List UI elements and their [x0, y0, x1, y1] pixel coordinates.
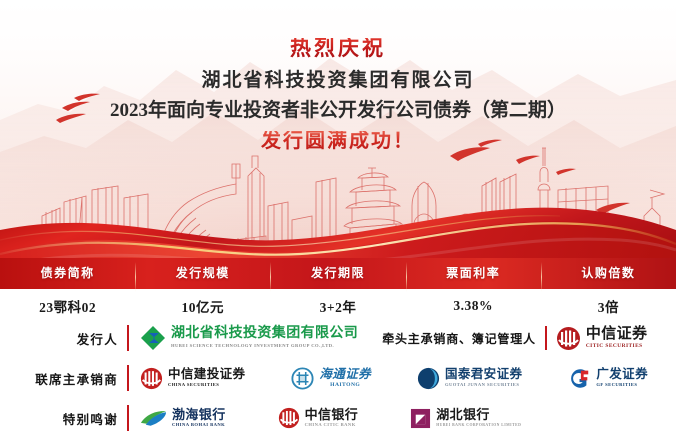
issuer-logos: 湖北省科技投资集团有限公司 HUBEI SCIENCE TECHNOLOGY I… [140, 325, 676, 351]
logo-haitong-securities: 海通证券 HAITONG [291, 367, 371, 390]
table-header-cell-3: 票面利率 [406, 264, 541, 281]
table-value-cell-0: 23鄂科02 [0, 296, 135, 316]
title-line-bond: 2023年面向专业投资者非公开发行公司债券（第二期） [0, 101, 676, 120]
title-line-celebrate: 热烈庆祝 [0, 38, 676, 59]
logo-cn-name: 中信建投证券 [168, 368, 245, 381]
gf-g-mark [568, 367, 591, 390]
row-divider [127, 365, 129, 391]
logo-cn-name: 国泰君安证券 [445, 368, 522, 381]
logo-cn-name: 海通证券 [319, 368, 371, 381]
title-block: 热烈庆祝 湖北省科技投资集团有限公司 2023年面向专业投资者非公开发行公司债券… [0, 38, 676, 151]
logo-en-name: CHINA BOHAI BANK [172, 423, 226, 428]
logo-cn-name: 渤海银行 [172, 408, 226, 421]
table-header-cell-4: 认购倍数 [541, 264, 676, 281]
row-mid-label-lead-underwriter: 牵头主承销商、簿记管理人 [382, 330, 536, 347]
logo-en-name: HAITONG [319, 383, 371, 389]
logo-cn-name: 广发证券 [596, 368, 648, 381]
table-value-cell-1: 10亿元 [135, 296, 270, 316]
guotai-crescent-mark [417, 367, 440, 390]
table-header-cell-1: 发行规模 [135, 264, 270, 281]
joint-underwriter-logos: 中信建投证券 CHINA SECURITIES 海通证券 HAITONG [140, 367, 676, 390]
logo-china-bohai-bank: 渤海银行 CHINA BOHAI BANK [140, 408, 226, 428]
logo-china-citic-bank: 中信银行 CHINA CITIC BANK [278, 407, 359, 429]
logo-citic-securities: 中信证券 CITIC SECURITIES [556, 326, 648, 351]
logo-en-name: HUBEI SCIENCE TECHNOLOGY INVESTMENT GROU… [171, 344, 358, 349]
mid-divider [545, 326, 547, 350]
participant-row-special-thanks: 特别鸣谢 渤海银行 CHINA BOHAI BANK [0, 398, 676, 438]
title-line-success: 发行圆满成功！ [0, 131, 676, 151]
table-header-row: 债券简称 发行规模 发行期限 票面利率 认购倍数 [0, 256, 676, 289]
hubei-square-mark [410, 408, 431, 429]
table-value-cell-2: 3+2年 [270, 296, 405, 316]
logo-hubei-bank: 湖北银行 HUBEI BANK CORPORATION LIMITED [410, 408, 521, 429]
spacer [367, 326, 373, 350]
logo-en-name: HUBEI BANK CORPORATION LIMITED [436, 424, 521, 428]
citic-bank-mark [278, 407, 300, 429]
special-thanks-logos: 渤海银行 CHINA BOHAI BANK 中信银行 [140, 407, 676, 429]
participant-row-issuer: 发行人 湖北省科技投资集团有限公司 HUBEI SCIENCE TECHNOLO… [0, 318, 676, 358]
logo-cn-name: 湖北银行 [436, 408, 521, 421]
haitong-circle-mark [291, 367, 314, 390]
logo-en-name: CITIC SECURITIES [586, 344, 648, 349]
row-label-joint-underwriters: 联席主承销商 [0, 369, 127, 388]
logo-cn-name: 湖北省科技投资集团有限公司 [171, 327, 358, 341]
row-label-special-thanks: 特别鸣谢 [0, 409, 127, 428]
row-divider [127, 405, 129, 431]
bohai-wave-mark [140, 408, 167, 428]
logo-en-name: CHINA SECURITIES [168, 383, 245, 388]
celebration-poster: 热烈庆祝 湖北省科技投资集团有限公司 2023年面向专业投资者非公开发行公司债券… [0, 0, 676, 439]
table-header-cell-0: 债券简称 [0, 264, 135, 281]
logo-gf-securities: 广发证券 GF SECURITIES [568, 367, 648, 390]
logo-hubei-sti-group: 湖北省科技投资集团有限公司 HUBEI SCIENCE TECHNOLOGY I… [140, 325, 358, 351]
logo-cn-name: 中信证券 [586, 327, 648, 342]
logo-cn-name: 中信银行 [305, 408, 359, 421]
participants-section: 发行人 湖北省科技投资集团有限公司 HUBEI SCIENCE TECHNOLO… [0, 318, 676, 438]
logo-en-name: GUOTAI JUNAN SECURITIES [445, 383, 522, 388]
logo-en-name: CHINA CITIC BANK [305, 423, 359, 428]
participant-row-joint-underwriters: 联席主承销商 中信建投证券 CHINA SECURITIES [0, 358, 676, 398]
logo-en-name: GF SECURITIES [596, 383, 648, 388]
logo-china-securities: 中信建投证券 CHINA SECURITIES [140, 367, 245, 390]
table-value-cell-4: 3倍 [541, 296, 676, 316]
row-label-issuer: 发行人 [0, 329, 127, 348]
bond-summary-table: 债券简称 发行规模 发行期限 票面利率 认购倍数 23鄂科02 10亿元 3+2… [0, 256, 676, 323]
row-divider [127, 325, 129, 351]
title-line-company: 湖北省科技投资集团有限公司 [0, 71, 676, 90]
logo-guotai-junan: 国泰君安证券 GUOTAI JUNAN SECURITIES [417, 367, 522, 390]
citic-circle-mark [140, 367, 163, 390]
citic-circle-mark [556, 326, 581, 351]
diamond-arrow-mark [140, 325, 166, 351]
table-value-cell-3: 3.38% [406, 298, 541, 314]
table-header-cell-2: 发行期限 [270, 264, 405, 281]
